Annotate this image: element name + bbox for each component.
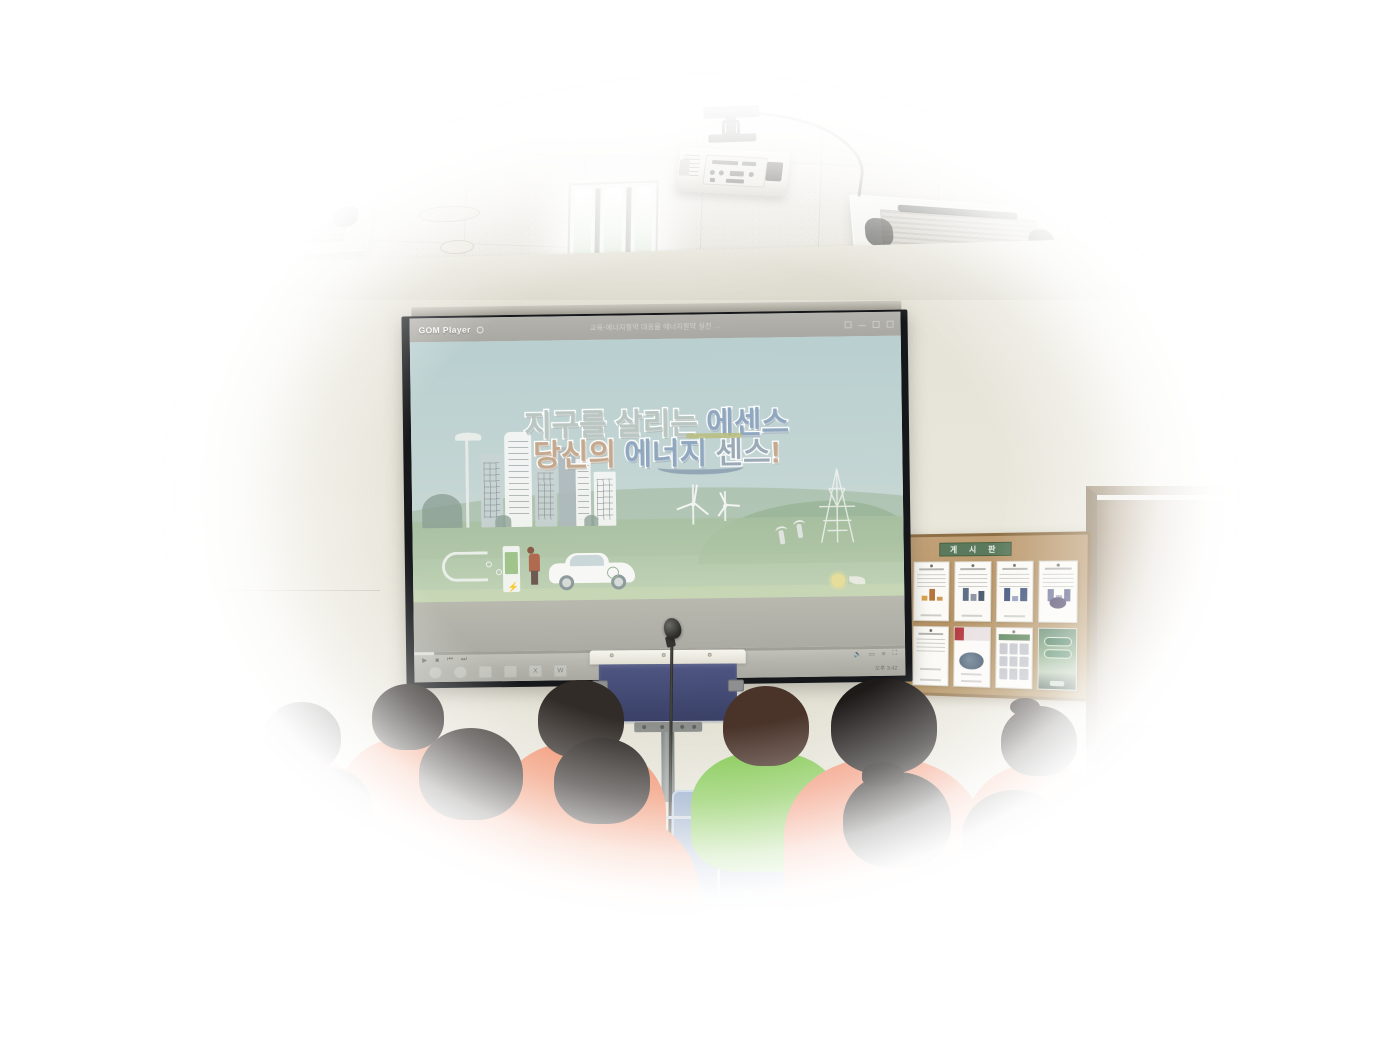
slide-electric-car: [548, 551, 635, 590]
head: [263, 702, 341, 772]
shoulders: [120, 878, 310, 1050]
poster-notice-3[interactable]: [995, 561, 1034, 623]
photo-canvas: 게 시 판: [0, 0, 1400, 1050]
ceiling-light-front: [570, 23, 692, 116]
slide-headline: 지구를 살리는 에센스 당신의 에너지 센스!: [411, 407, 903, 474]
poster-notice-1[interactable]: [913, 561, 949, 621]
audience-member-10: [940, 790, 1088, 1050]
slide-content: ⚡: [410, 336, 905, 653]
headline-l2-part4: !: [770, 437, 780, 470]
head: [419, 728, 523, 820]
headline-l2-part1: 당신의: [533, 439, 625, 473]
audience-member-14: [150, 810, 280, 1050]
head: [1096, 722, 1178, 798]
slide-ev-charging-scene: ⚡: [442, 529, 620, 593]
minimize-icon[interactable]: [859, 322, 866, 326]
poster-notice-2[interactable]: [954, 561, 991, 622]
bulletin-board-sign: 게 시 판: [939, 542, 1011, 557]
push-pin-icon: [1057, 563, 1060, 566]
hair-bun: [1010, 698, 1040, 716]
poster-notice-4[interactable]: [1038, 560, 1078, 623]
close-icon[interactable]: [887, 320, 894, 327]
head: [831, 678, 937, 774]
ceiling-cassette-ac-left: [192, 183, 377, 262]
menu-icon[interactable]: [845, 321, 852, 328]
hair-clip: [862, 762, 904, 786]
shoulders: [504, 810, 700, 1000]
slide-person-figure: [527, 547, 544, 592]
slide-wind-digital-turbine-2: [716, 491, 733, 521]
ceiling-mounted-projector: [675, 147, 790, 197]
head: [554, 738, 650, 824]
head: [136, 660, 220, 734]
slide-charging-cable: [442, 551, 488, 582]
slide-transmission-pylon: [814, 466, 859, 545]
push-pin-icon: [1013, 563, 1016, 566]
head: [169, 810, 261, 892]
audience-group: [0, 620, 1400, 1050]
audience-member-6: [534, 738, 670, 988]
shoulders: [911, 872, 1117, 1050]
room-scene: 게 시 판: [0, 0, 1400, 1050]
slide-charging-station: ⚡: [502, 546, 520, 592]
push-pin-icon: [930, 564, 933, 567]
maximize-icon[interactable]: [873, 320, 880, 327]
window-title-text: 교육-에너지절약 대응물 에너지절약 실천 ...: [410, 319, 901, 336]
push-pin-icon: [971, 564, 974, 567]
head: [286, 768, 372, 846]
head: [843, 772, 951, 868]
head: [723, 686, 809, 766]
door-header-trim: [1097, 495, 1336, 500]
hair-accessory-white: [996, 836, 1030, 866]
window-controls[interactable]: [845, 320, 894, 328]
head: [1001, 706, 1077, 776]
slide-wind-turbine-1: [682, 484, 705, 524]
